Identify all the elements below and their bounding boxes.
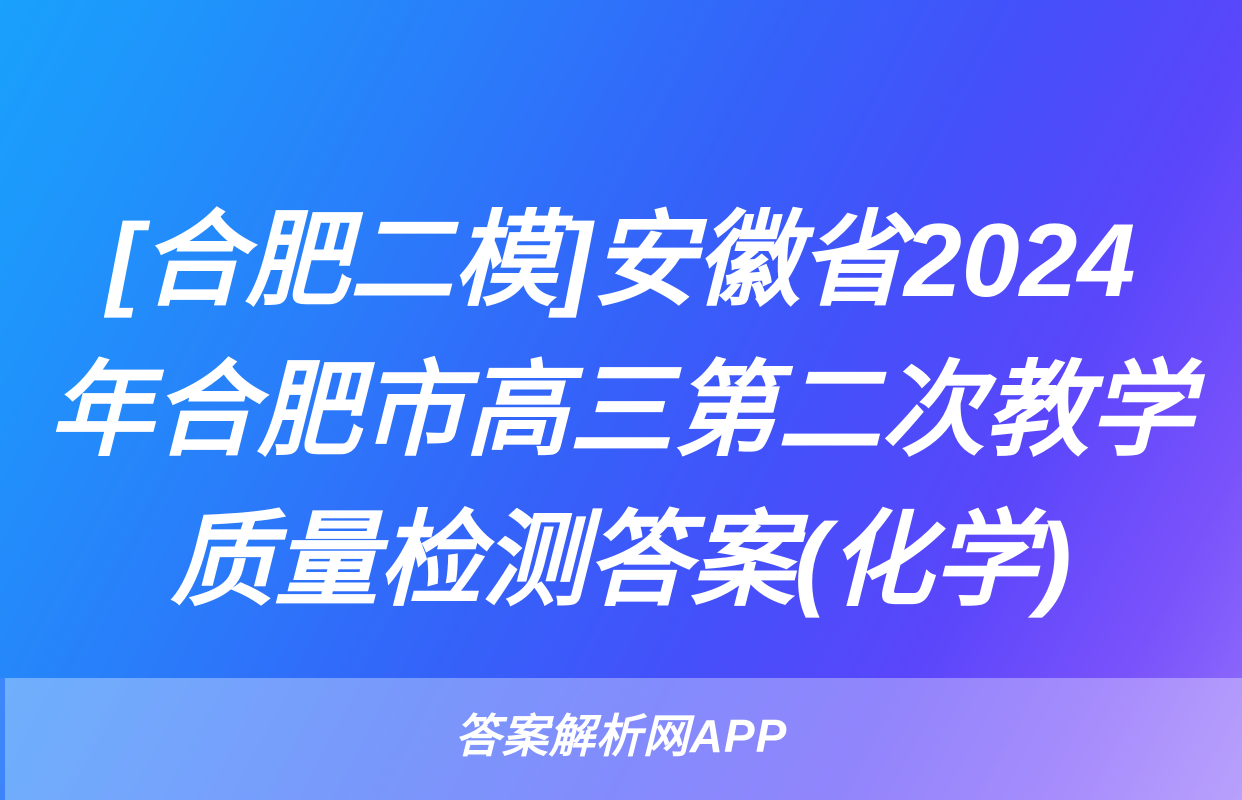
page-title: [合肥二模]安徽省2024 年合肥市高三第二次教学 质量检测答案(化学) <box>0 186 1242 636</box>
promo-poster: [合肥二模]安徽省2024 年合肥市高三第二次教学 质量检测答案(化学) 答案解… <box>0 0 1242 800</box>
watermark-brand: 答案解析网APP <box>0 705 1242 767</box>
title-line-1: [合肥二模]安徽省2024 <box>48 186 1194 336</box>
title-line-3: 质量检测答案(化学) <box>48 486 1194 636</box>
title-line-2: 年合肥市高三第二次教学 <box>48 336 1194 486</box>
